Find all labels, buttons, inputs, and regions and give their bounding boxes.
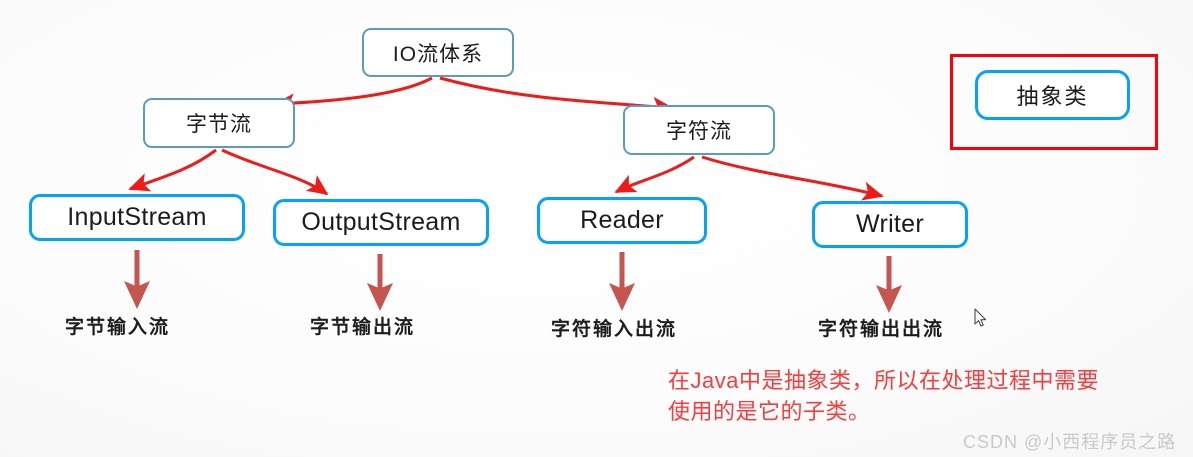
legend-node-abstract-class[interactable]: 抽象类 [975, 70, 1130, 120]
node-inputstream-label: InputStream [67, 203, 206, 232]
label-byte-output-stream: 字节输出流 [310, 312, 415, 339]
node-root[interactable]: IO流体系 [362, 28, 514, 77]
node-reader[interactable]: Reader [537, 197, 707, 244]
annotation-text: 在Java中是抽象类，所以在处理过程中需要 使用的是它的子类。 [668, 365, 1099, 427]
edge-root-to-char-stream [440, 78, 672, 108]
node-byte-stream-label: 字节流 [186, 108, 252, 138]
node-char-stream[interactable]: 字符流 [623, 105, 775, 155]
node-writer[interactable]: Writer [812, 201, 968, 248]
legend-node-label: 抽象类 [1016, 79, 1088, 111]
annotation-line-2: 使用的是它的子类。 [668, 396, 1099, 427]
node-byte-stream[interactable]: 字节流 [143, 98, 295, 148]
edge-char-to-reader [616, 157, 694, 192]
edge-root-to-byte-stream [275, 78, 432, 104]
csdn-watermark: CSDN @小西程序员之路 [963, 428, 1176, 454]
label-char-input-stream: 字符输入出流 [551, 314, 677, 341]
edge-byte-to-inputstream [130, 150, 216, 189]
node-char-stream-label: 字符流 [666, 115, 732, 145]
label-char-output-stream: 字符输出出流 [818, 314, 944, 341]
node-outputstream-label: OutputStream [301, 208, 460, 237]
node-root-label: IO流体系 [393, 38, 483, 68]
edge-byte-to-outputstream [222, 150, 327, 194]
edge-char-to-writer [702, 157, 882, 196]
node-writer-label: Writer [856, 210, 924, 239]
label-byte-input-stream: 字节输入流 [65, 312, 170, 339]
node-reader-label: Reader [580, 206, 664, 235]
node-inputstream[interactable]: InputStream [29, 194, 245, 241]
diagram-canvas: IO流体系 字节流 字符流 InputStream OutputStream R… [0, 0, 1193, 457]
node-outputstream[interactable]: OutputStream [273, 199, 489, 246]
mouse-cursor-icon [974, 308, 988, 328]
annotation-line-1: 在Java中是抽象类，所以在处理过程中需要 [668, 365, 1099, 396]
